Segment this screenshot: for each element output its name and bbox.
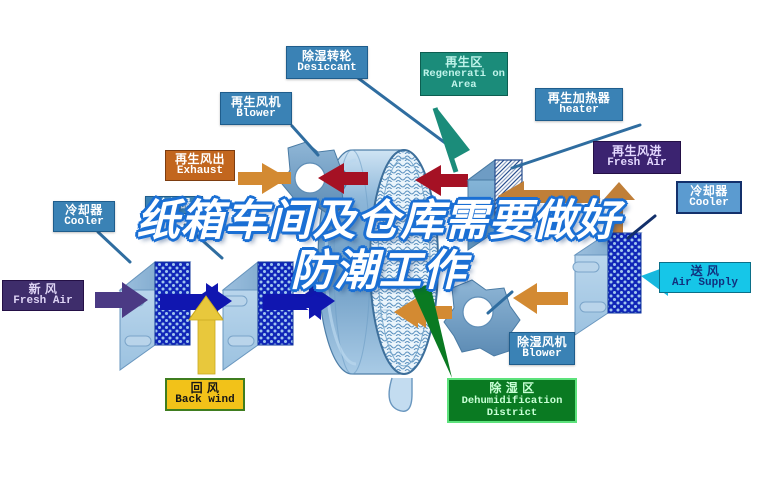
label-regeneration-exhaust: 再生风出 Exhaust: [165, 150, 235, 181]
label-regeneration-blower: 再生风机 Blower: [220, 92, 292, 125]
exhaust-arrow: [238, 163, 288, 194]
label-regeneration-heater: 再生加热器 heater: [535, 88, 623, 121]
label-back-wind: 回 风 Back wind: [165, 378, 245, 411]
label-dehumidification-blower: 除湿风机 Blower: [509, 332, 575, 365]
headline-overlay: 纸箱车间及仓库需要做好 防潮工作: [0, 196, 757, 296]
label-desiccant-wheel: 除湿转轮 Desiccant: [286, 46, 368, 79]
label-regeneration-fresh-air: 再生风进 Fresh Air: [593, 141, 681, 174]
label-dehumidification-district: 除 湿 区 Dehumidification District: [447, 378, 577, 423]
dehumidification-diagram: XT: [0, 0, 757, 488]
svg-text:XT: XT: [375, 307, 391, 321]
label-regeneration-area: 再生区 Regenerati on Area: [420, 52, 508, 96]
